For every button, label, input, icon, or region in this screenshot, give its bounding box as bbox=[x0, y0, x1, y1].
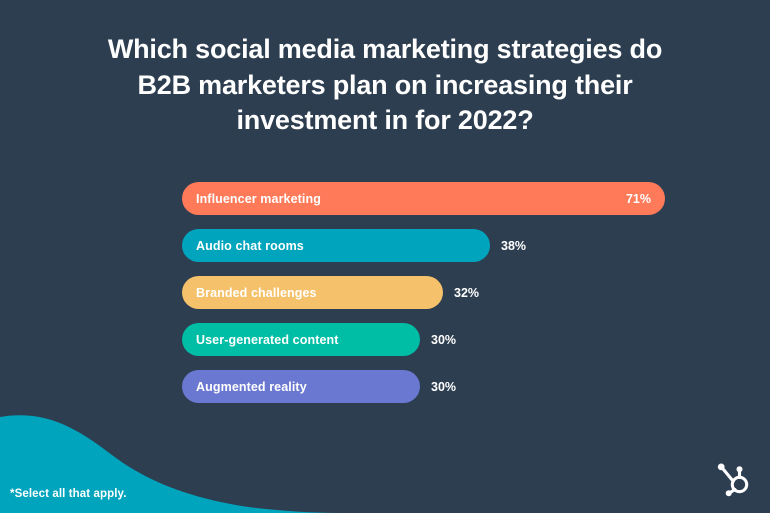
bar-1[interactable]: Influencer marketing71% bbox=[182, 182, 665, 215]
bar-row: User-generated content30% bbox=[182, 323, 742, 356]
bar-value-label: 32% bbox=[454, 276, 479, 309]
bar-value-label: 30% bbox=[431, 323, 456, 356]
bar-2[interactable]: Audio chat rooms bbox=[182, 229, 490, 262]
title-line-1: Which social media marketing strategies … bbox=[50, 32, 720, 68]
infographic-canvas: Which social media marketing strategies … bbox=[0, 0, 770, 513]
bar-row: Audio chat rooms38% bbox=[182, 229, 742, 262]
bar-row: Augmented reality30% bbox=[182, 370, 742, 403]
footnote-text: *Select all that apply. bbox=[10, 488, 127, 500]
bar-row: Influencer marketing71% bbox=[182, 182, 742, 215]
title-line-3: investment in for 2022? bbox=[50, 103, 720, 139]
bar-category-label: Audio chat rooms bbox=[196, 239, 304, 253]
bar-category-label: Branded challenges bbox=[196, 286, 317, 300]
bar-category-label: User-generated content bbox=[196, 333, 339, 347]
bar-5[interactable]: Augmented reality bbox=[182, 370, 420, 403]
bar-category-label: Augmented reality bbox=[196, 380, 307, 394]
bar-row: Branded challenges32% bbox=[182, 276, 742, 309]
bar-value-label: 71% bbox=[626, 192, 651, 206]
bar-category-label: Influencer marketing bbox=[196, 192, 321, 206]
bar-4[interactable]: User-generated content bbox=[182, 323, 420, 356]
hubspot-sprocket-icon bbox=[712, 458, 752, 498]
title-line-2: B2B marketers plan on increasing their bbox=[50, 68, 720, 104]
page-title: Which social media marketing strategies … bbox=[50, 32, 720, 139]
bar-value-label: 38% bbox=[501, 229, 526, 262]
bar-chart: Influencer marketing71%Audio chat rooms3… bbox=[182, 182, 742, 402]
bar-value-label: 30% bbox=[431, 370, 456, 403]
bar-3[interactable]: Branded challenges bbox=[182, 276, 443, 309]
